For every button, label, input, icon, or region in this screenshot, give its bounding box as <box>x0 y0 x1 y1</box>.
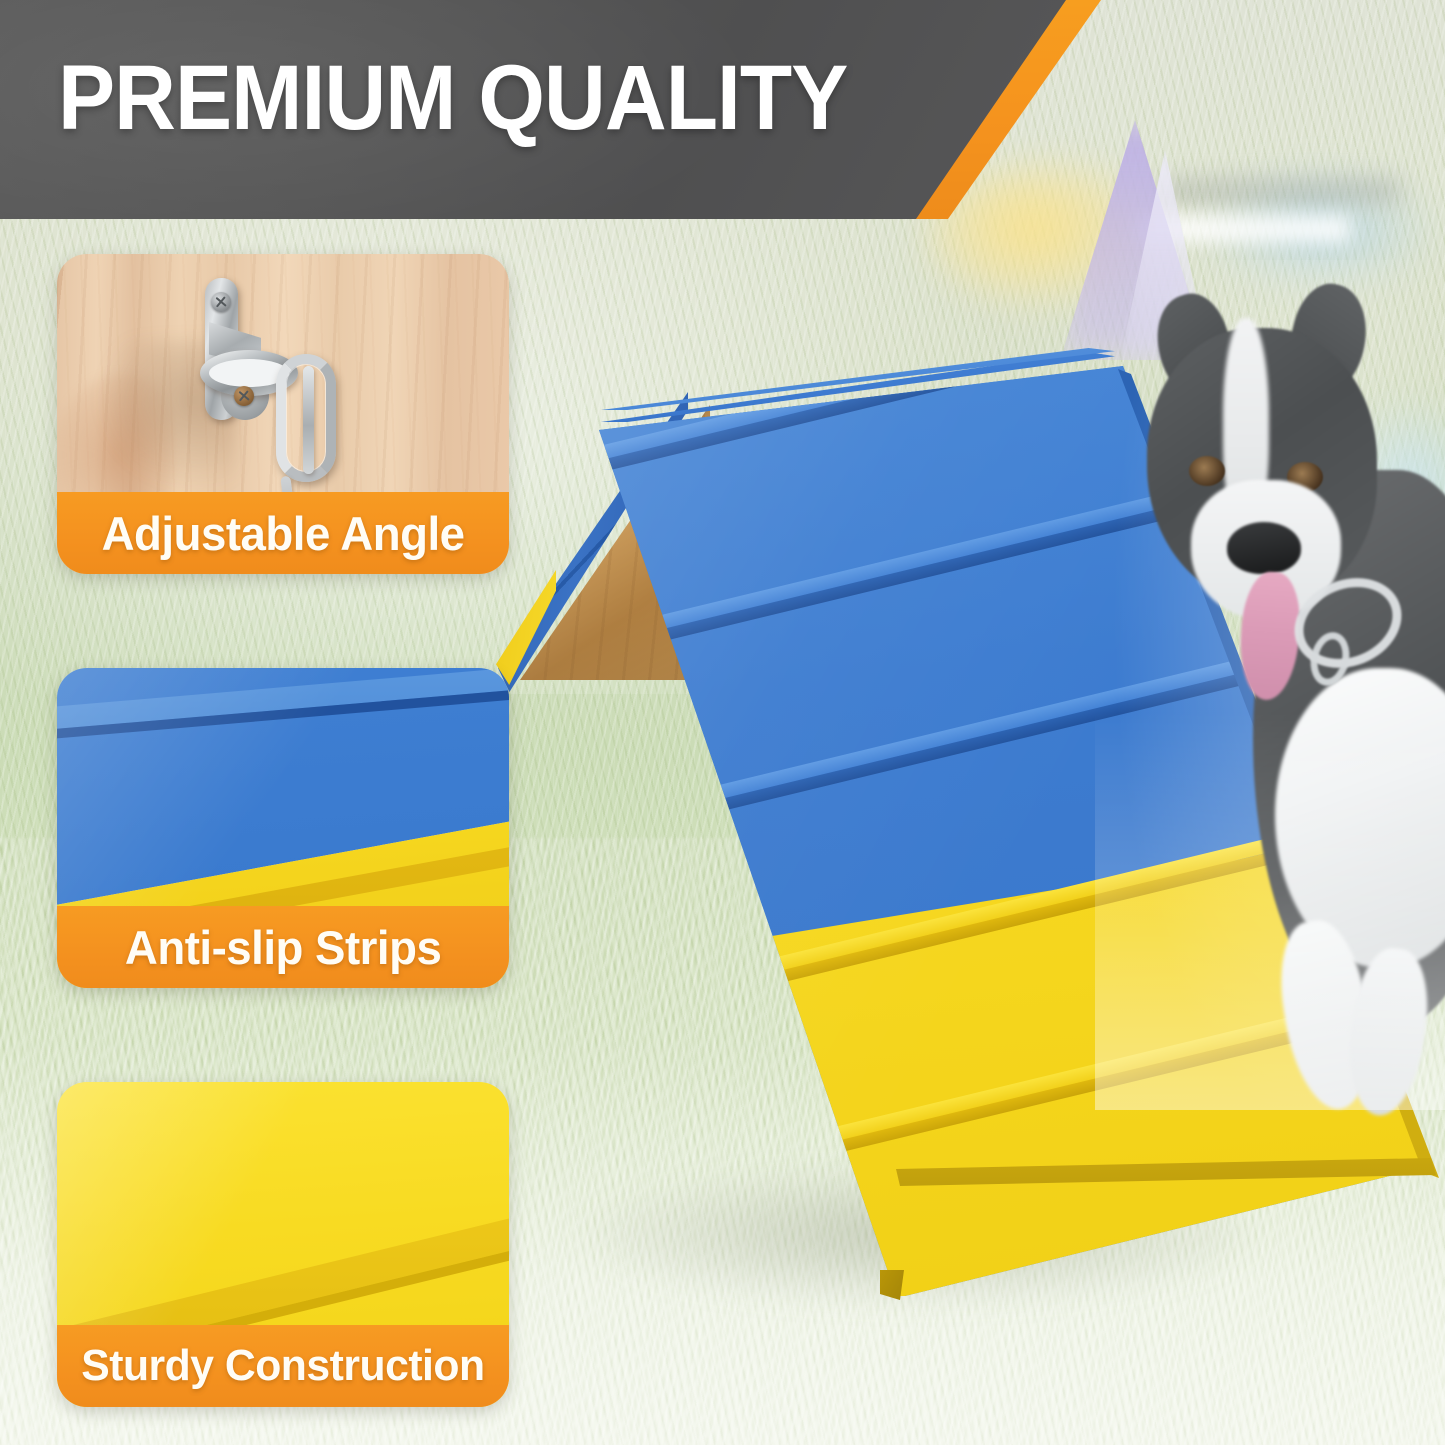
feature-label-bar: Sturdy Construction <box>57 1325 509 1407</box>
premium-quality-banner: PREMIUM QUALITY <box>0 0 1110 219</box>
border-collie-dog <box>1135 280 1445 1110</box>
dog-bottom-fade <box>1095 280 1445 1110</box>
feature-label-bar: Adjustable Angle <box>57 492 509 574</box>
feature-label-text: Sturdy Construction <box>81 1341 484 1391</box>
feature-card-sturdy-construction[interactable]: Sturdy Construction <box>57 1082 509 1407</box>
feature-label-text: Adjustable Angle <box>102 506 465 561</box>
feature-card-anti-slip-strips[interactable]: Anti-slip Strips <box>57 668 509 988</box>
feature-card-adjustable-angle[interactable]: Adjustable Angle <box>57 254 509 574</box>
product-image-stage: PREMIUM QUALITY Adjustable Angle <box>0 0 1445 1445</box>
carabiner-gate-icon <box>303 366 314 474</box>
feature-label-bar: Anti-slip Strips <box>57 906 509 988</box>
background-dark-strip <box>1160 180 1400 202</box>
banner-title: PREMIUM QUALITY <box>58 52 847 144</box>
screw-icon <box>234 386 254 406</box>
screw-icon <box>211 292 231 312</box>
feature-label-text: Anti-slip Strips <box>125 920 441 975</box>
